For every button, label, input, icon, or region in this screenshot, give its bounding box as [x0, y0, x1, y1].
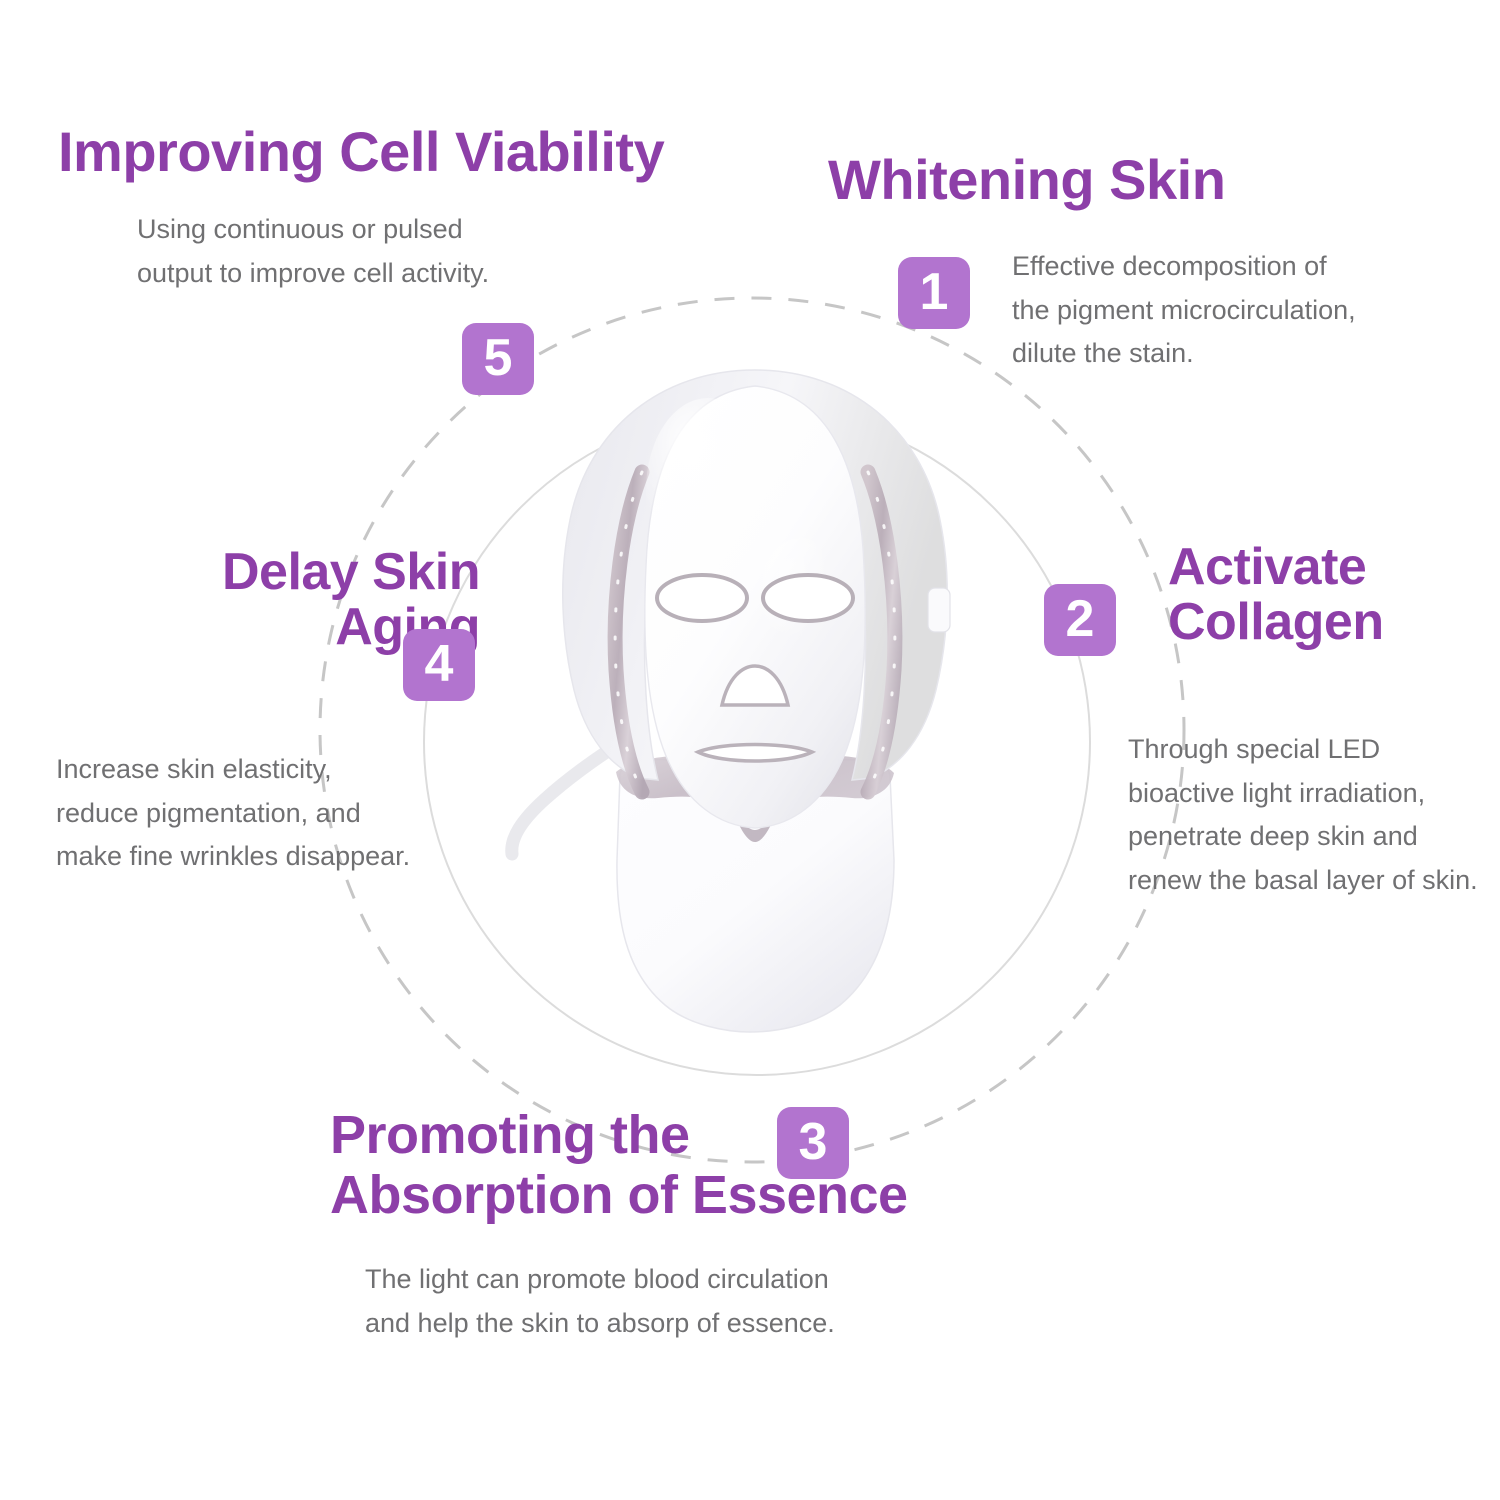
badge-5: 5: [462, 323, 534, 395]
feature-title-whitening-skin: Whitening Skin: [828, 150, 1225, 209]
feature-body-activate-collagen: Through special LED bioactive light irra…: [1128, 728, 1500, 903]
feature-title-activate-collagen: Activate Collagen: [1168, 540, 1498, 650]
side-button: [928, 588, 950, 632]
badge-4: 4: [403, 629, 475, 701]
feature-body-whitening-skin: Effective decomposition of the pigment m…: [1012, 245, 1432, 376]
feature-body-improving-cell-viability: Using continuous or pulsed output to imp…: [137, 208, 567, 295]
badge-1: 1: [898, 257, 970, 329]
infographic-canvas: Improving Cell Viability Using continuou…: [0, 0, 1500, 1500]
badge-3: 3: [777, 1107, 849, 1179]
feature-title-promoting-absorption: Promoting the Absorption of Essence: [330, 1105, 1010, 1226]
feature-body-delay-skin-aging: Increase skin elasticity, reduce pigment…: [56, 748, 486, 879]
mouth-opening: [698, 745, 812, 762]
product-image: [470, 360, 1040, 1060]
feature-title-improving-cell-viability: Improving Cell Viability: [58, 122, 664, 181]
feature-body-promoting-absorption: The light can promote blood circulation …: [365, 1258, 985, 1345]
badge-2: 2: [1044, 584, 1116, 656]
